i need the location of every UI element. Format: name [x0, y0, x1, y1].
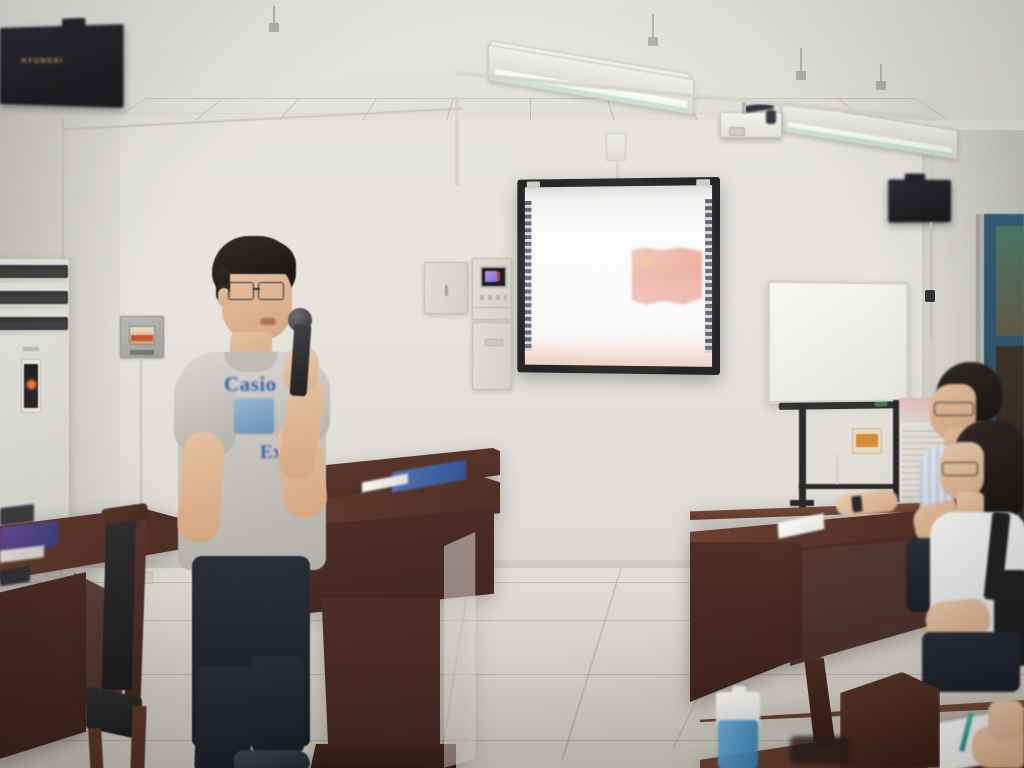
wall-hook [925, 290, 935, 302]
speaker-shirt-text-line1: Casio [224, 372, 277, 397]
speaker-wire [930, 222, 932, 342]
electrical-junction-panel[interactable] [120, 316, 164, 358]
control-cabinet-upper[interactable] [472, 258, 512, 320]
speaker-glasses-temple [218, 285, 230, 287]
cabinet-label-plate [485, 339, 503, 346]
bottle-body [718, 720, 758, 768]
control-cabinet-lower[interactable] [472, 322, 512, 390]
wall-socket-inner [856, 434, 878, 447]
ac-display-panel[interactable] [21, 359, 41, 413]
whiteboard-stand-crossbar [799, 484, 899, 489]
light-hanger [800, 48, 802, 80]
audience-writer-forearm [988, 700, 1024, 740]
speaker-left: HYUNDAI [0, 24, 123, 108]
wristwatch [851, 496, 863, 513]
ac-brand-label [23, 347, 39, 351]
slide-flag: ☭ [632, 247, 702, 305]
interactive-whiteboard-screen[interactable]: ☭ [517, 177, 720, 375]
desk-left-front [0, 572, 86, 762]
screen-right-toolbar[interactable] [705, 199, 712, 353]
object-under-desk [790, 736, 850, 764]
classroom-photo: HYUNDAI ☭ [0, 0, 1024, 768]
audience-woman-front [932, 420, 1024, 680]
light-hanger [652, 14, 654, 46]
bottle-spout [732, 686, 746, 700]
audience-woman-glasses [942, 462, 978, 476]
slide-footer-gradient [525, 342, 712, 367]
speaker-brand-label: HYUNDAI [21, 58, 63, 65]
audience-woman-lap [922, 632, 1020, 692]
speaker-right [888, 179, 951, 222]
light-hanger [273, 6, 275, 32]
speaker-glasses-bridge [253, 288, 260, 290]
audience-man-glasses [934, 402, 974, 416]
screen-surface: ☭ [525, 185, 712, 367]
speaker-glasses-left-lens [228, 282, 254, 300]
door-glass [996, 226, 1024, 336]
cabinet-display [480, 266, 507, 288]
screen-left-toolbar[interactable] [525, 201, 532, 351]
speaker-glasses-right-lens [258, 282, 284, 300]
projector-cable [766, 110, 776, 124]
speaker-leg-right [252, 656, 304, 752]
wall-access-door[interactable] [424, 262, 468, 314]
door-handle[interactable] [445, 285, 448, 296]
conduit-junction-box [606, 133, 626, 161]
speaker-shoe [234, 750, 310, 768]
desk-right-back-front [690, 542, 802, 702]
light-hanger [880, 64, 882, 90]
hammer-sickle-icon: ☭ [642, 255, 658, 270]
chair-left[interactable] [86, 506, 162, 768]
whiteboard[interactable] [767, 280, 909, 404]
wall-socket-cable [836, 454, 839, 484]
water-bottle[interactable] [714, 692, 762, 768]
whiteboard-marker[interactable] [874, 402, 887, 407]
speaker-shirt-graphic [234, 398, 274, 434]
speaker-left-arm [176, 431, 226, 544]
speaker-mouth [260, 318, 276, 325]
chair-left-legfront [88, 728, 109, 768]
speaker-person: Casio Exp [168, 236, 358, 768]
chair-left-backrest [102, 514, 137, 691]
